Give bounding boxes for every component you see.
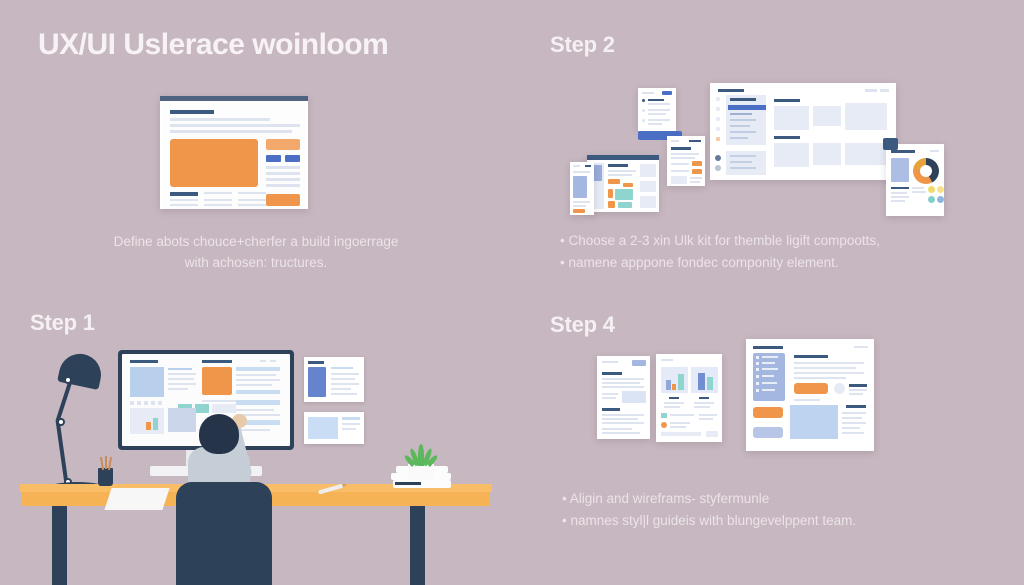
sidebar-item[interactable] (730, 113, 752, 115)
nav-label[interactable] (762, 356, 778, 358)
tool-icon (158, 401, 162, 405)
bar-chart-col (672, 384, 676, 390)
preview-block (308, 417, 338, 439)
text-line (602, 386, 644, 388)
text-line (170, 130, 292, 133)
teal-block (195, 404, 209, 413)
text-line (573, 205, 586, 207)
text-line (794, 367, 856, 369)
status-badge (632, 360, 646, 366)
text-line (573, 165, 580, 167)
nav-label[interactable] (762, 375, 774, 377)
analytics-document-mock (656, 354, 722, 442)
swatch-yellow (928, 186, 935, 193)
text-line (849, 384, 867, 387)
text-line (849, 393, 863, 395)
header-item (880, 89, 889, 92)
text-line (266, 178, 300, 181)
text-line (842, 422, 866, 424)
text-line (794, 399, 820, 401)
tag-button[interactable] (285, 155, 300, 162)
style-guide-card-mock (886, 144, 944, 216)
swatch-blue (937, 196, 944, 203)
text-line (602, 361, 618, 363)
text-line (236, 374, 276, 376)
text-line (689, 140, 701, 142)
panel-caption: Define abots chouce+cherfer a build ingo… (0, 232, 512, 274)
text-line (170, 199, 198, 201)
avatar[interactable] (715, 155, 721, 161)
text-line (331, 388, 351, 390)
book-spine (395, 482, 421, 485)
bullet-item: namene apppone fondec componity element. (560, 252, 1010, 274)
legend-swatch (661, 413, 667, 418)
nav-icon[interactable] (716, 97, 720, 101)
lamp-arm-upper (56, 380, 73, 421)
cta-button[interactable] (266, 139, 300, 150)
card-heading (891, 150, 915, 153)
badge (662, 91, 672, 95)
text-line (664, 402, 684, 404)
text-line (170, 118, 270, 121)
component-badge-icon (883, 138, 898, 150)
nav-icon[interactable] (756, 375, 759, 378)
text-line (168, 368, 192, 370)
text-line (238, 192, 266, 194)
text-line (842, 432, 864, 434)
text-line (168, 383, 196, 385)
text-line (648, 113, 666, 115)
text-line (794, 377, 846, 379)
text-line (331, 393, 357, 395)
sidebar-selected-item[interactable] (728, 105, 766, 110)
text-line (912, 187, 924, 189)
text-line (342, 428, 356, 430)
browser-wireframe-mock (160, 96, 308, 209)
step-1-title: Step 1 (30, 310, 95, 336)
nav-icon[interactable] (756, 362, 759, 365)
swatch-teal (928, 196, 935, 203)
hero-image-block (573, 176, 587, 198)
text-line (266, 184, 300, 187)
thumbnail (671, 176, 687, 184)
content-tile[interactable] (813, 106, 841, 126)
nav-icon[interactable] (756, 356, 759, 359)
footer-button[interactable] (706, 431, 718, 437)
teal-block (618, 202, 632, 208)
artboard-block (130, 408, 164, 434)
teal-block (615, 189, 633, 200)
desk-leg-right (410, 506, 425, 585)
text-line (842, 412, 866, 414)
list-card-mock (667, 136, 705, 186)
panel-bullet-list: Aligin and wireframs- styfermunle namnes… (562, 488, 1012, 532)
text-line (602, 418, 638, 420)
hero-image-block (202, 367, 232, 395)
text-line (891, 196, 909, 198)
footer-cta-button[interactable] (266, 194, 300, 206)
section-heading (602, 408, 620, 411)
panel-top-right: Step 2 (512, 0, 1024, 292)
column-heading (170, 192, 198, 196)
preview-block (891, 158, 909, 182)
text-line (671, 170, 689, 172)
swatch-yellow (937, 186, 944, 193)
bar-chart-col (146, 422, 151, 430)
page-title: UX/UI Uslerace woinloom (38, 28, 388, 62)
content-tile[interactable] (845, 103, 887, 130)
legend-swatch (661, 422, 667, 428)
desk-lamp-shade (57, 350, 105, 390)
bar-chart-col (666, 380, 671, 390)
desk-leg-left (52, 506, 67, 585)
sidebar-item[interactable] (730, 155, 756, 157)
text-line (842, 417, 862, 419)
poster-canvas: UX/UI Uslerace woinloom (0, 0, 1024, 585)
text-line (170, 124, 300, 127)
toolbar-item (260, 360, 266, 362)
content-heading (794, 355, 828, 358)
content-tile[interactable] (774, 106, 809, 130)
nav-label[interactable] (762, 389, 775, 391)
nav-icon[interactable] (716, 127, 720, 131)
phone-mock (570, 162, 594, 215)
sidebar-item[interactable] (730, 137, 748, 139)
text-line (266, 166, 300, 169)
notification-card-mock (638, 88, 676, 131)
text-line (602, 378, 644, 380)
panel-bullet-list: Choose a 2-3 xin Ulk kit for themble lig… (560, 230, 1010, 274)
text-line (573, 201, 590, 203)
nav-label[interactable] (762, 362, 775, 364)
nav-icon[interactable] (756, 389, 759, 392)
avatar (834, 383, 845, 394)
panel-bottom-right: Step 4 (512, 292, 1024, 585)
content-tile (212, 404, 236, 413)
text-line (602, 432, 640, 434)
text-line (202, 400, 236, 402)
text-line (204, 204, 232, 206)
donut-hole (920, 165, 932, 177)
list-icon (642, 119, 645, 122)
content-tile (640, 181, 656, 192)
panel-row (236, 390, 280, 394)
tool-icon (130, 401, 134, 405)
pencil (105, 456, 107, 469)
bar-chart-col (678, 374, 684, 390)
text-line (912, 191, 926, 193)
text-line (236, 384, 272, 386)
step-4-title: Step 4 (550, 312, 615, 338)
text-line (661, 359, 673, 361)
toolbar-item (270, 360, 276, 362)
text-line (670, 426, 686, 428)
hero-image-block (170, 139, 258, 187)
primary-button[interactable] (608, 179, 620, 184)
app-logo (753, 346, 783, 349)
metric-label (669, 397, 679, 399)
nav-icon[interactable] (756, 382, 759, 385)
panel-top-left: UX/UI Uslerace woinloom (0, 0, 512, 292)
preview-image-block (790, 405, 838, 439)
text-line (238, 199, 266, 201)
text-line (331, 367, 353, 369)
text-line (236, 379, 280, 381)
text-line (671, 163, 689, 165)
sidebar-item[interactable] (730, 125, 750, 127)
secondary-button[interactable] (623, 183, 633, 187)
office-chair (176, 482, 272, 585)
primary-cta-button[interactable] (794, 383, 828, 394)
text-line (891, 192, 907, 194)
text-line (930, 150, 939, 152)
text-line (694, 406, 710, 408)
text-line (168, 373, 196, 375)
text-line (238, 204, 266, 206)
tool-icon (137, 401, 141, 405)
text-line (204, 199, 232, 201)
wall-mock-lower (304, 412, 364, 444)
tool-icon (144, 401, 148, 405)
nav-icon[interactable] (756, 368, 759, 371)
spec-document-mock (597, 356, 650, 439)
paper-sketch (104, 488, 169, 510)
content-tile[interactable] (813, 143, 841, 165)
nav-icon[interactable] (716, 107, 720, 111)
screen-heading (202, 360, 232, 363)
sidebar-heading (730, 98, 756, 101)
section-heading (774, 99, 800, 102)
artboard-block (168, 408, 196, 432)
sidebar-item[interactable] (730, 167, 756, 169)
accent-block (608, 189, 613, 198)
legend-label (670, 414, 694, 416)
text-line (266, 172, 300, 175)
text-line (699, 414, 717, 416)
tag-button[interactable] (266, 155, 281, 162)
metric-label (699, 397, 709, 399)
content-tile (640, 196, 656, 208)
text-line (573, 171, 590, 173)
section-label (891, 187, 909, 189)
title-bar (587, 155, 659, 160)
text-line (602, 397, 616, 399)
book-stack-item (393, 480, 451, 488)
bullet-item: Aligin and wireframs- styfermunle (562, 488, 1012, 510)
dashboard-logo (718, 89, 744, 92)
text-line (331, 378, 355, 380)
row-action-button[interactable] (692, 161, 702, 166)
panel-bottom-left: Step 1 (0, 292, 512, 585)
row-action-button[interactable] (692, 169, 702, 174)
heading-bar (170, 110, 214, 114)
text-line (602, 414, 644, 416)
text-line (690, 177, 702, 179)
text-line (236, 409, 274, 411)
text-line (694, 402, 714, 404)
content-tile (640, 164, 656, 177)
desktop-app-mock (587, 155, 659, 212)
text-line (842, 427, 860, 429)
list-icon (642, 109, 645, 112)
content-tile[interactable] (774, 143, 809, 167)
nav-icon[interactable] (716, 117, 720, 121)
secondary-cta-button[interactable] (753, 407, 783, 418)
heading-bar (308, 361, 324, 364)
lamp-arm-lower (56, 420, 69, 484)
accent-block (608, 201, 615, 208)
cta-button[interactable] (573, 209, 585, 213)
bullet-item: Choose a 2-3 xin Ulk kit for themble lig… (560, 230, 1010, 252)
panel-row (236, 400, 280, 405)
text-line (204, 192, 232, 194)
sidebar-item[interactable] (730, 161, 752, 163)
text-line (602, 422, 644, 424)
browser-page (162, 101, 306, 209)
list-icon (642, 99, 645, 102)
text-line (585, 165, 591, 167)
dashboard-mock (710, 83, 896, 180)
text-line (794, 362, 864, 364)
section-heading (602, 372, 622, 375)
text-line (342, 417, 360, 420)
list-item-title (648, 99, 664, 101)
text-line (849, 389, 867, 391)
text-line (671, 157, 695, 159)
bullet-item: namnes styl|l guideis with blungevelppen… (562, 510, 1012, 532)
text-line (331, 383, 359, 385)
text-line (608, 174, 632, 176)
text-line (602, 393, 618, 395)
content-tile[interactable] (845, 143, 887, 165)
text-line (690, 181, 700, 183)
screen-heading (130, 360, 158, 363)
tool-icon (151, 401, 155, 405)
lamp-joint-mid (57, 418, 65, 426)
person-head (199, 414, 239, 454)
header-item (854, 346, 868, 348)
text-line (608, 170, 636, 172)
text-line (168, 388, 188, 390)
panel-row (236, 367, 280, 371)
caption-line-2: with achosen: tructures. (60, 253, 452, 274)
bar-chart-col (707, 377, 713, 390)
text-line (671, 153, 699, 155)
text-line (342, 423, 360, 425)
text-line (602, 382, 640, 384)
text-line (671, 140, 679, 142)
nav-icon[interactable] (716, 137, 720, 141)
header-item (865, 89, 877, 92)
text-line (648, 119, 670, 121)
pen-cup (98, 468, 113, 486)
footer-bar (661, 432, 701, 436)
text-line (168, 378, 194, 380)
text-line (331, 373, 359, 375)
tertiary-button[interactable] (753, 427, 783, 438)
section-heading (774, 136, 800, 139)
lamp-joint-top (64, 376, 72, 384)
bar-chart-col (153, 418, 158, 430)
text-line (602, 428, 632, 430)
text-line (648, 109, 670, 111)
artboard-block (130, 367, 164, 397)
text-line (664, 406, 680, 408)
avatar[interactable] (715, 165, 721, 171)
wall-mock-upper (304, 357, 364, 402)
card-heading (671, 147, 691, 150)
handoff-screen-mock (746, 339, 874, 451)
text-line (648, 123, 662, 125)
detail-heading (846, 405, 866, 408)
sidebar-item[interactable] (730, 119, 756, 121)
sidebar-item[interactable] (730, 131, 756, 133)
step-2-title: Step 2 (550, 32, 615, 58)
preview-block (308, 367, 326, 397)
donut-chart (913, 158, 939, 184)
text-line (891, 200, 905, 202)
caption-line-1: Define abots chouce+cherfer a build ingo… (60, 232, 452, 253)
text-line (170, 204, 198, 206)
legend-label (670, 422, 690, 424)
text-line (794, 372, 864, 374)
nav-label[interactable] (762, 368, 778, 370)
text-line (648, 103, 670, 105)
callout-block (622, 391, 646, 403)
text-line (642, 92, 654, 94)
nav-label[interactable] (762, 382, 777, 384)
bar-chart-col (698, 373, 705, 390)
text-line (699, 418, 713, 420)
content-heading (608, 164, 628, 167)
